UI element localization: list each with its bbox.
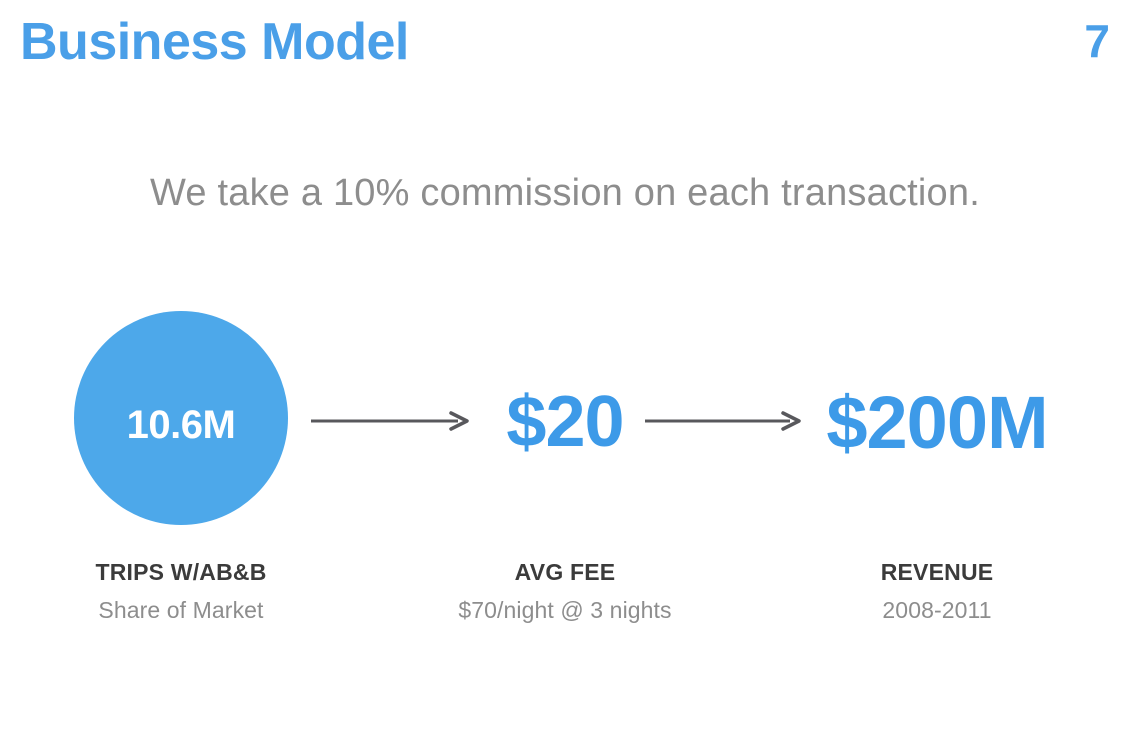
trips-caption-title: TRIPS W/AB&B bbox=[56, 558, 306, 587]
avg-fee-caption: AVG FEE $70/night @ 3 nights bbox=[440, 558, 690, 624]
avg-fee-caption-sub: $70/night @ 3 nights bbox=[440, 597, 690, 625]
revenue-caption-sub: 2008-2011 bbox=[812, 597, 1062, 625]
funnel-stage-revenue: $200M REVENUE 2008-2011 bbox=[812, 300, 1062, 532]
business-model-funnel: 10.6M TRIPS W/AB&B Share of Market $20 A… bbox=[0, 300, 1130, 660]
arrow-right-icon bbox=[645, 410, 803, 432]
revenue-value: $200M bbox=[812, 386, 1062, 460]
funnel-stage-revenue-value-row: $200M bbox=[812, 300, 1062, 532]
avg-fee-caption-title: AVG FEE bbox=[440, 558, 690, 587]
slide-subtitle: We take a 10% commission on each transac… bbox=[0, 172, 1130, 215]
trips-value: 10.6M bbox=[127, 403, 236, 448]
page-title: Business Model bbox=[20, 14, 409, 71]
funnel-stage-trips-value-row: 10.6M bbox=[56, 300, 306, 532]
slide: Business Model 7 We take a 10% commissio… bbox=[0, 0, 1130, 754]
trips-caption-sub: Share of Market bbox=[56, 597, 306, 625]
revenue-caption-title: REVENUE bbox=[812, 558, 1062, 587]
revenue-caption: REVENUE 2008-2011 bbox=[812, 558, 1062, 624]
funnel-stage-trips: 10.6M TRIPS W/AB&B Share of Market bbox=[56, 300, 306, 532]
page-number: 7 bbox=[1084, 14, 1110, 69]
trips-circle: 10.6M bbox=[74, 311, 288, 525]
trips-caption: TRIPS W/AB&B Share of Market bbox=[56, 558, 306, 624]
